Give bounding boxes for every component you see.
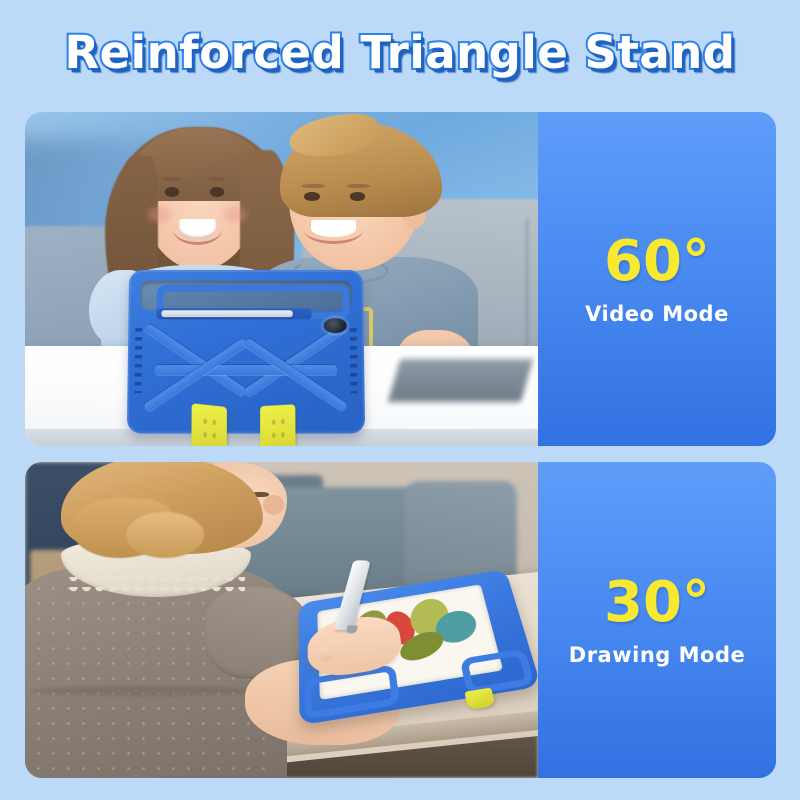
girl-lips bbox=[173, 214, 222, 246]
feature-card-drawing-mode: 30° Drawing Mode bbox=[25, 462, 776, 778]
girl2-nose bbox=[263, 495, 284, 515]
mode-panel-drawing: 30° Drawing Mode bbox=[538, 462, 776, 778]
product-photo-drawing-mode bbox=[25, 462, 538, 778]
child-girl-drawing bbox=[25, 462, 323, 778]
kickstand-holes-right bbox=[269, 415, 286, 446]
feature-card-video-mode: 60° Video Mode bbox=[25, 112, 776, 446]
girl2-skirt-seam bbox=[31, 686, 263, 696]
triangle-kickstand bbox=[183, 405, 303, 446]
mode-label-video: Video Mode bbox=[585, 304, 729, 325]
angle-value-video: 60° bbox=[604, 234, 710, 290]
girl2-hair-curl-2 bbox=[126, 512, 203, 558]
girl2-thumb bbox=[317, 645, 336, 664]
x-rib-bottom-left bbox=[143, 338, 249, 413]
x-rib-bottom-right bbox=[243, 338, 349, 413]
boy-eyebrow-left bbox=[302, 184, 325, 188]
girl2-collar-lace-trim bbox=[67, 577, 246, 593]
kickstand-leg-right bbox=[260, 404, 296, 446]
mode-label-drawing: Drawing Mode bbox=[569, 645, 745, 666]
camera-cutout bbox=[323, 318, 347, 333]
x-rib-top-left bbox=[144, 323, 249, 398]
boy-eyebrow-right bbox=[347, 184, 370, 188]
case-vents-left bbox=[134, 328, 142, 393]
tablet-case-60-degrees bbox=[126, 270, 364, 433]
boy-eye-left bbox=[304, 192, 320, 200]
product-photo-video-mode bbox=[25, 112, 538, 446]
girl-eye-left bbox=[165, 187, 179, 197]
boy-eye-right bbox=[350, 192, 366, 200]
kickstand-leg-left bbox=[191, 403, 227, 446]
mode-panel-video: 60° Video Mode bbox=[538, 112, 776, 446]
x-rib-center bbox=[154, 365, 337, 375]
kickstand-holes-left bbox=[200, 414, 217, 446]
case-vents-right bbox=[349, 328, 357, 393]
page-header: Reinforced Triangle Stand bbox=[0, 0, 800, 104]
girl-cheek-right bbox=[224, 207, 247, 221]
table-shadow bbox=[388, 359, 534, 402]
x-rib-top-right bbox=[243, 323, 348, 398]
page-title: Reinforced Triangle Stand bbox=[64, 26, 735, 79]
girl-cheek-left bbox=[148, 207, 171, 221]
girl-eye-right bbox=[210, 187, 224, 197]
angle-value-drawing: 30° bbox=[604, 575, 710, 631]
stylus-pen bbox=[161, 310, 293, 317]
sofa-seam bbox=[526, 219, 528, 353]
